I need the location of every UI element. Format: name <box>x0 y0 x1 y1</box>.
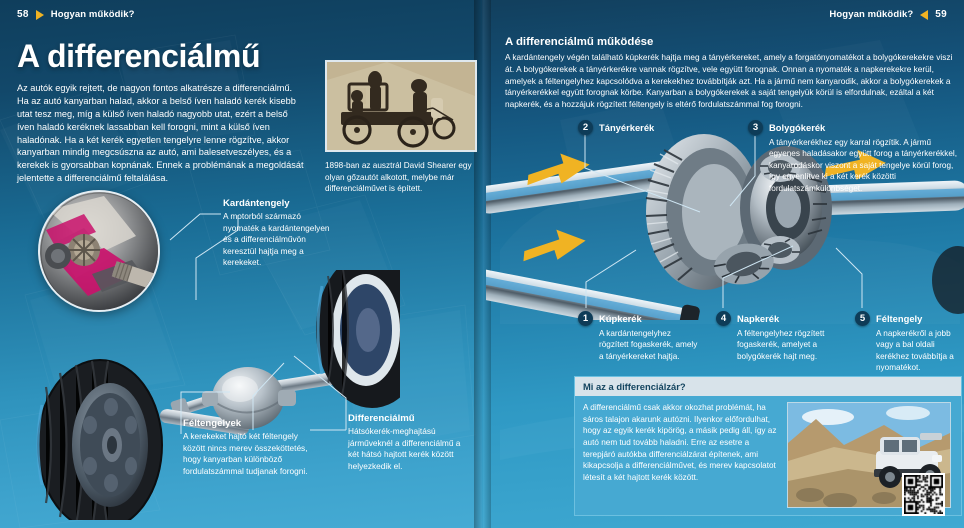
section-title: A differenciálmű működése <box>505 36 653 48</box>
callout-number-badge: 1 <box>578 311 593 326</box>
callout-body: A napkerékről a jobb vagy a bal oldali k… <box>876 328 964 374</box>
callout-differencialmu: Differenciálmű Hátsókerék-meghajtású jár… <box>348 413 468 472</box>
header-right-label: Hogyan működik? <box>829 9 913 20</box>
info-box-title: Mi az a differenciálzár? <box>575 377 961 396</box>
numbered-callout-2: 2 Tányérkerék <box>578 120 698 135</box>
callout-body: A kardántengelyhez rögzített fogaskerék,… <box>599 328 698 362</box>
callout-body: Hátsókerék-meghajtású járműveknél a diff… <box>348 426 468 472</box>
differential-cutaway-photo <box>38 190 160 312</box>
callout-feltengelyek: Féltengelyek A kerekeket hajtó két félte… <box>183 418 318 477</box>
intro-paragraph: Az autók egyik rejtett, de nagyon fontos… <box>17 82 306 185</box>
callout-number-badge: 3 <box>748 120 763 135</box>
magazine-spread: 58 Hogyan működik? Hogyan működik? 59 A … <box>0 0 964 528</box>
historic-photo-caption: 1898-ban az ausztrál David Shearer egy o… <box>325 160 480 195</box>
triangle-right-icon <box>36 10 44 20</box>
header-right: Hogyan működik? 59 <box>829 9 947 20</box>
numbered-callout-3: 3 Bolygókerék A tányérkerékhez egy karra… <box>748 120 962 194</box>
header-left-label: Hogyan működik? <box>51 9 135 20</box>
callout-title: Féltengelyek <box>183 418 318 429</box>
callout-title: Tányérkerék <box>599 120 654 133</box>
callout-body: A tányérkerékhez egy karral rögzítik. A … <box>769 137 962 194</box>
callout-body: A kerekeket hajtó két féltengely között … <box>183 431 318 477</box>
rear-axle-illustration <box>0 270 400 520</box>
callout-title: Differenciálmű <box>348 413 468 424</box>
callout-kardantengely: Kardántengely A motorból származó nyomat… <box>223 198 331 269</box>
numbered-callout-4: 4 Napkerék A féltengelyhez rögzített fog… <box>716 311 836 362</box>
historic-photo <box>325 60 477 152</box>
callout-number-badge: 5 <box>855 311 870 326</box>
callout-title: Bolygókerék <box>769 120 825 133</box>
numbered-callout-5: 5 Féltengely A napkerékről a jobb vagy a… <box>855 311 964 374</box>
callout-number-badge: 2 <box>578 120 593 135</box>
callout-title: Féltengely <box>876 311 922 324</box>
header-left: 58 Hogyan működik? <box>17 9 135 20</box>
page-title: A differenciálmű <box>17 38 260 75</box>
page-number-left: 58 <box>17 9 29 20</box>
page-number-right: 59 <box>935 9 947 20</box>
callout-body: A motorból származó nyomaték a kardánten… <box>223 211 331 269</box>
section-body: A kardántengely végén található kúpkerék… <box>505 52 955 111</box>
callout-title: Napkerék <box>737 311 779 324</box>
triangle-left-icon <box>920 10 928 20</box>
callout-title: Kardántengely <box>223 198 331 209</box>
callout-number-badge: 4 <box>716 311 731 326</box>
numbered-callout-1: 1 Kúpkerék A kardántengelyhez rögzített … <box>578 311 698 362</box>
callout-body: A féltengelyhez rögzített fogaskerék, am… <box>737 328 836 362</box>
info-box-body: A differenciálmű csak akkor okozhat prob… <box>583 402 779 508</box>
qr-code-icon[interactable] <box>902 473 945 516</box>
callout-title: Kúpkerék <box>599 311 642 324</box>
